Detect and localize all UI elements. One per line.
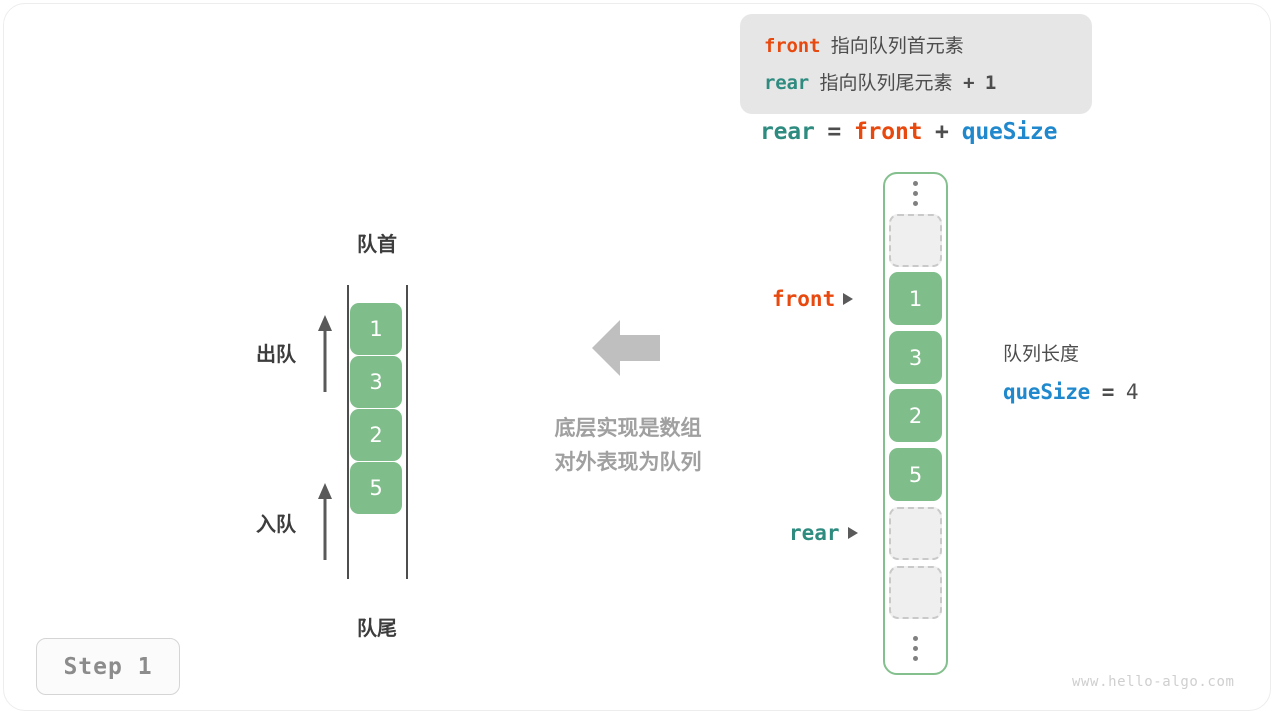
- rear-pointer-arrow-icon: [848, 527, 858, 539]
- array-cell-1: 1: [889, 272, 942, 325]
- formula-plus: +: [935, 119, 949, 145]
- queue-head-label: 队首: [347, 228, 407, 257]
- rear-pointer-label: rear: [789, 521, 840, 545]
- queue-item-3-value: 5: [369, 476, 382, 500]
- quesize-equals: =: [1102, 380, 1114, 404]
- array-cell-2: 3: [889, 331, 942, 384]
- callout-rear-plus: +: [963, 72, 974, 94]
- pointer-definition-callout: front 指向队列首元素 rear 指向队列尾元素 + 1: [740, 14, 1092, 114]
- step-badge-label: Step 1: [63, 654, 152, 680]
- array-cell-4-value: 5: [909, 463, 922, 487]
- formula-front: front: [854, 119, 922, 145]
- queue-tail-label: 队尾: [347, 612, 407, 641]
- callout-front-text: 指向队列首元素: [831, 36, 964, 57]
- array-cell-3-value: 2: [909, 404, 922, 428]
- step-badge: Step 1: [36, 638, 180, 695]
- queue-item-3: 5: [350, 462, 402, 514]
- center-explanation: 底层实现是数组 对外表现为队列: [528, 412, 728, 480]
- center-explanation-line-1: 底层实现是数组: [528, 412, 728, 446]
- queue-rail-left: [347, 285, 349, 579]
- formula-rear: rear: [760, 119, 815, 145]
- queue-item-1-value: 3: [369, 370, 382, 394]
- array-cell-4: 5: [889, 448, 942, 501]
- array-cell-6: [889, 566, 942, 619]
- callout-line-front: front 指向队列首元素: [764, 28, 1092, 65]
- center-explanation-line-2: 对外表现为队列: [528, 446, 728, 480]
- callout-rear-one: 1: [985, 72, 996, 94]
- queue-rail-right: [406, 285, 408, 579]
- callout-rear-code: rear: [764, 72, 809, 94]
- front-pointer: front: [772, 287, 853, 311]
- quesize-expression: queSize = 4: [1003, 376, 1138, 409]
- quesize-caption: 队列长度: [1003, 340, 1138, 370]
- array-bottom-ellipsis-icon: [909, 636, 921, 661]
- array-cell-1-value: 1: [909, 287, 922, 311]
- quesize-value: 4: [1126, 380, 1138, 404]
- queue-item-2-value: 2: [369, 423, 382, 447]
- watermark: www.hello-algo.com: [1072, 674, 1235, 690]
- queue-item-2: 2: [350, 409, 402, 461]
- rear-formula: rear = front + queSize: [760, 118, 1057, 145]
- queue-item-1: 3: [350, 356, 402, 408]
- array-cell-0: [889, 214, 942, 267]
- formula-equals: =: [827, 119, 841, 145]
- callout-front-code: front: [764, 35, 820, 57]
- callout-rear-text: 指向队列尾元素: [820, 73, 953, 94]
- diagram-canvas: front 指向队列首元素 rear 指向队列尾元素 + 1 rear = fr…: [0, 0, 1280, 720]
- queue-item-0: 1: [350, 303, 402, 355]
- quesize-annotation: 队列长度 queSize = 4: [1003, 340, 1138, 409]
- enqueue-label: 入队: [256, 508, 296, 537]
- enqueue-up-arrow-icon: [314, 480, 336, 562]
- dequeue-label: 出队: [256, 338, 296, 367]
- array-top-ellipsis-icon: [909, 181, 921, 206]
- dequeue-up-arrow-icon: [314, 312, 336, 394]
- front-pointer-arrow-icon: [843, 293, 853, 305]
- array-cell-3: 2: [889, 389, 942, 442]
- queue-item-0-value: 1: [369, 317, 382, 341]
- rear-pointer: rear: [789, 521, 858, 545]
- quesize-name: queSize: [1003, 380, 1090, 404]
- array-cell-5: [889, 507, 942, 560]
- callout-line-rear: rear 指向队列尾元素 + 1: [764, 65, 1092, 102]
- front-pointer-label: front: [772, 287, 835, 311]
- left-arrow-icon: [592, 318, 660, 378]
- formula-quesize: queSize: [962, 119, 1058, 145]
- array-cell-2-value: 3: [909, 346, 922, 370]
